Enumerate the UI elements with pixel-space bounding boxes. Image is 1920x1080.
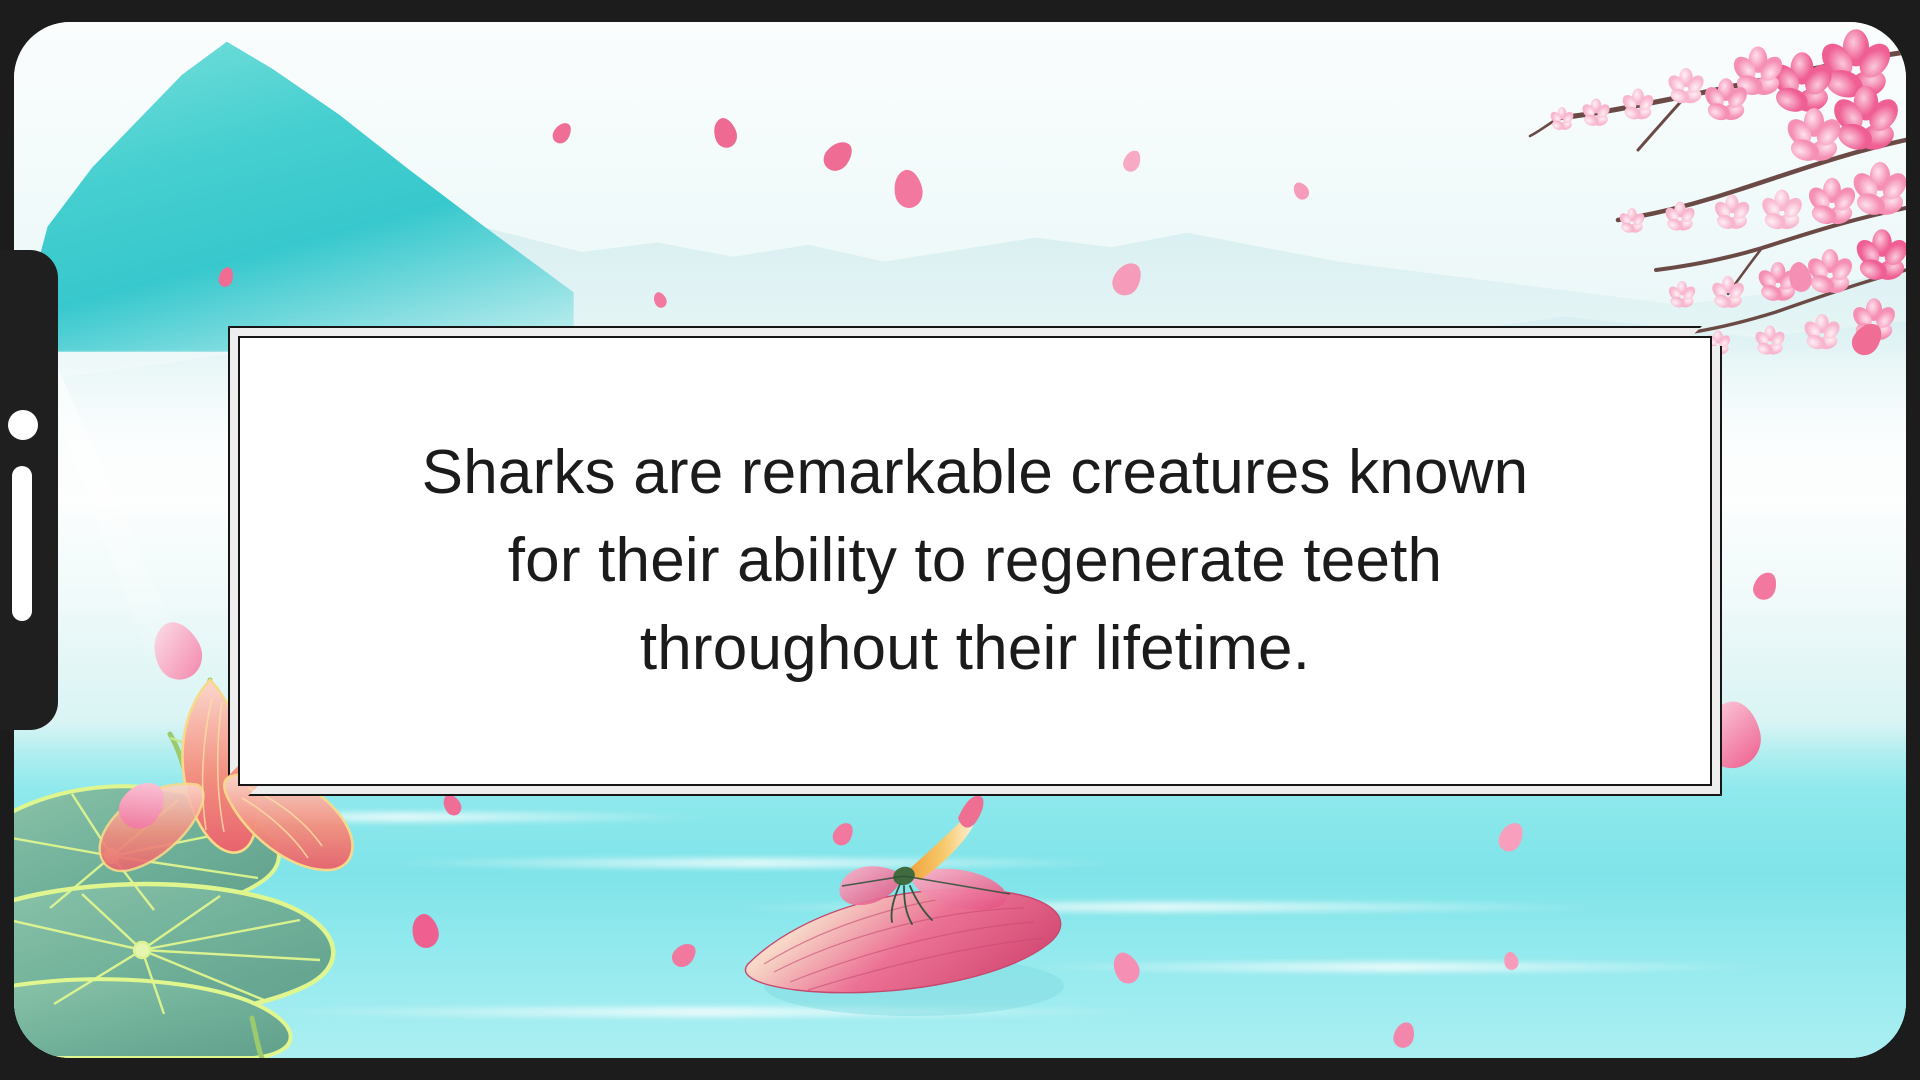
quote-line-3: throughout their lifetime. (345, 605, 1605, 693)
phone-device-frame: Sharks are remarkable creatures known fo… (0, 0, 1920, 1080)
quote-text: Sharks are remarkable creatures known fo… (345, 429, 1605, 693)
earpiece-speaker-pill-icon (12, 466, 32, 621)
quote-line-2: for their ability to regenerate teeth (345, 517, 1605, 605)
phone-screen[interactable]: Sharks are remarkable creatures known fo… (14, 22, 1906, 1058)
quote-line-1: Sharks are remarkable creatures known (345, 429, 1605, 517)
front-camera-dot-icon (8, 410, 38, 440)
dragonfly-and-petal-boat (704, 768, 1124, 1048)
quote-text-box[interactable]: Sharks are remarkable creatures known fo… (238, 336, 1712, 786)
